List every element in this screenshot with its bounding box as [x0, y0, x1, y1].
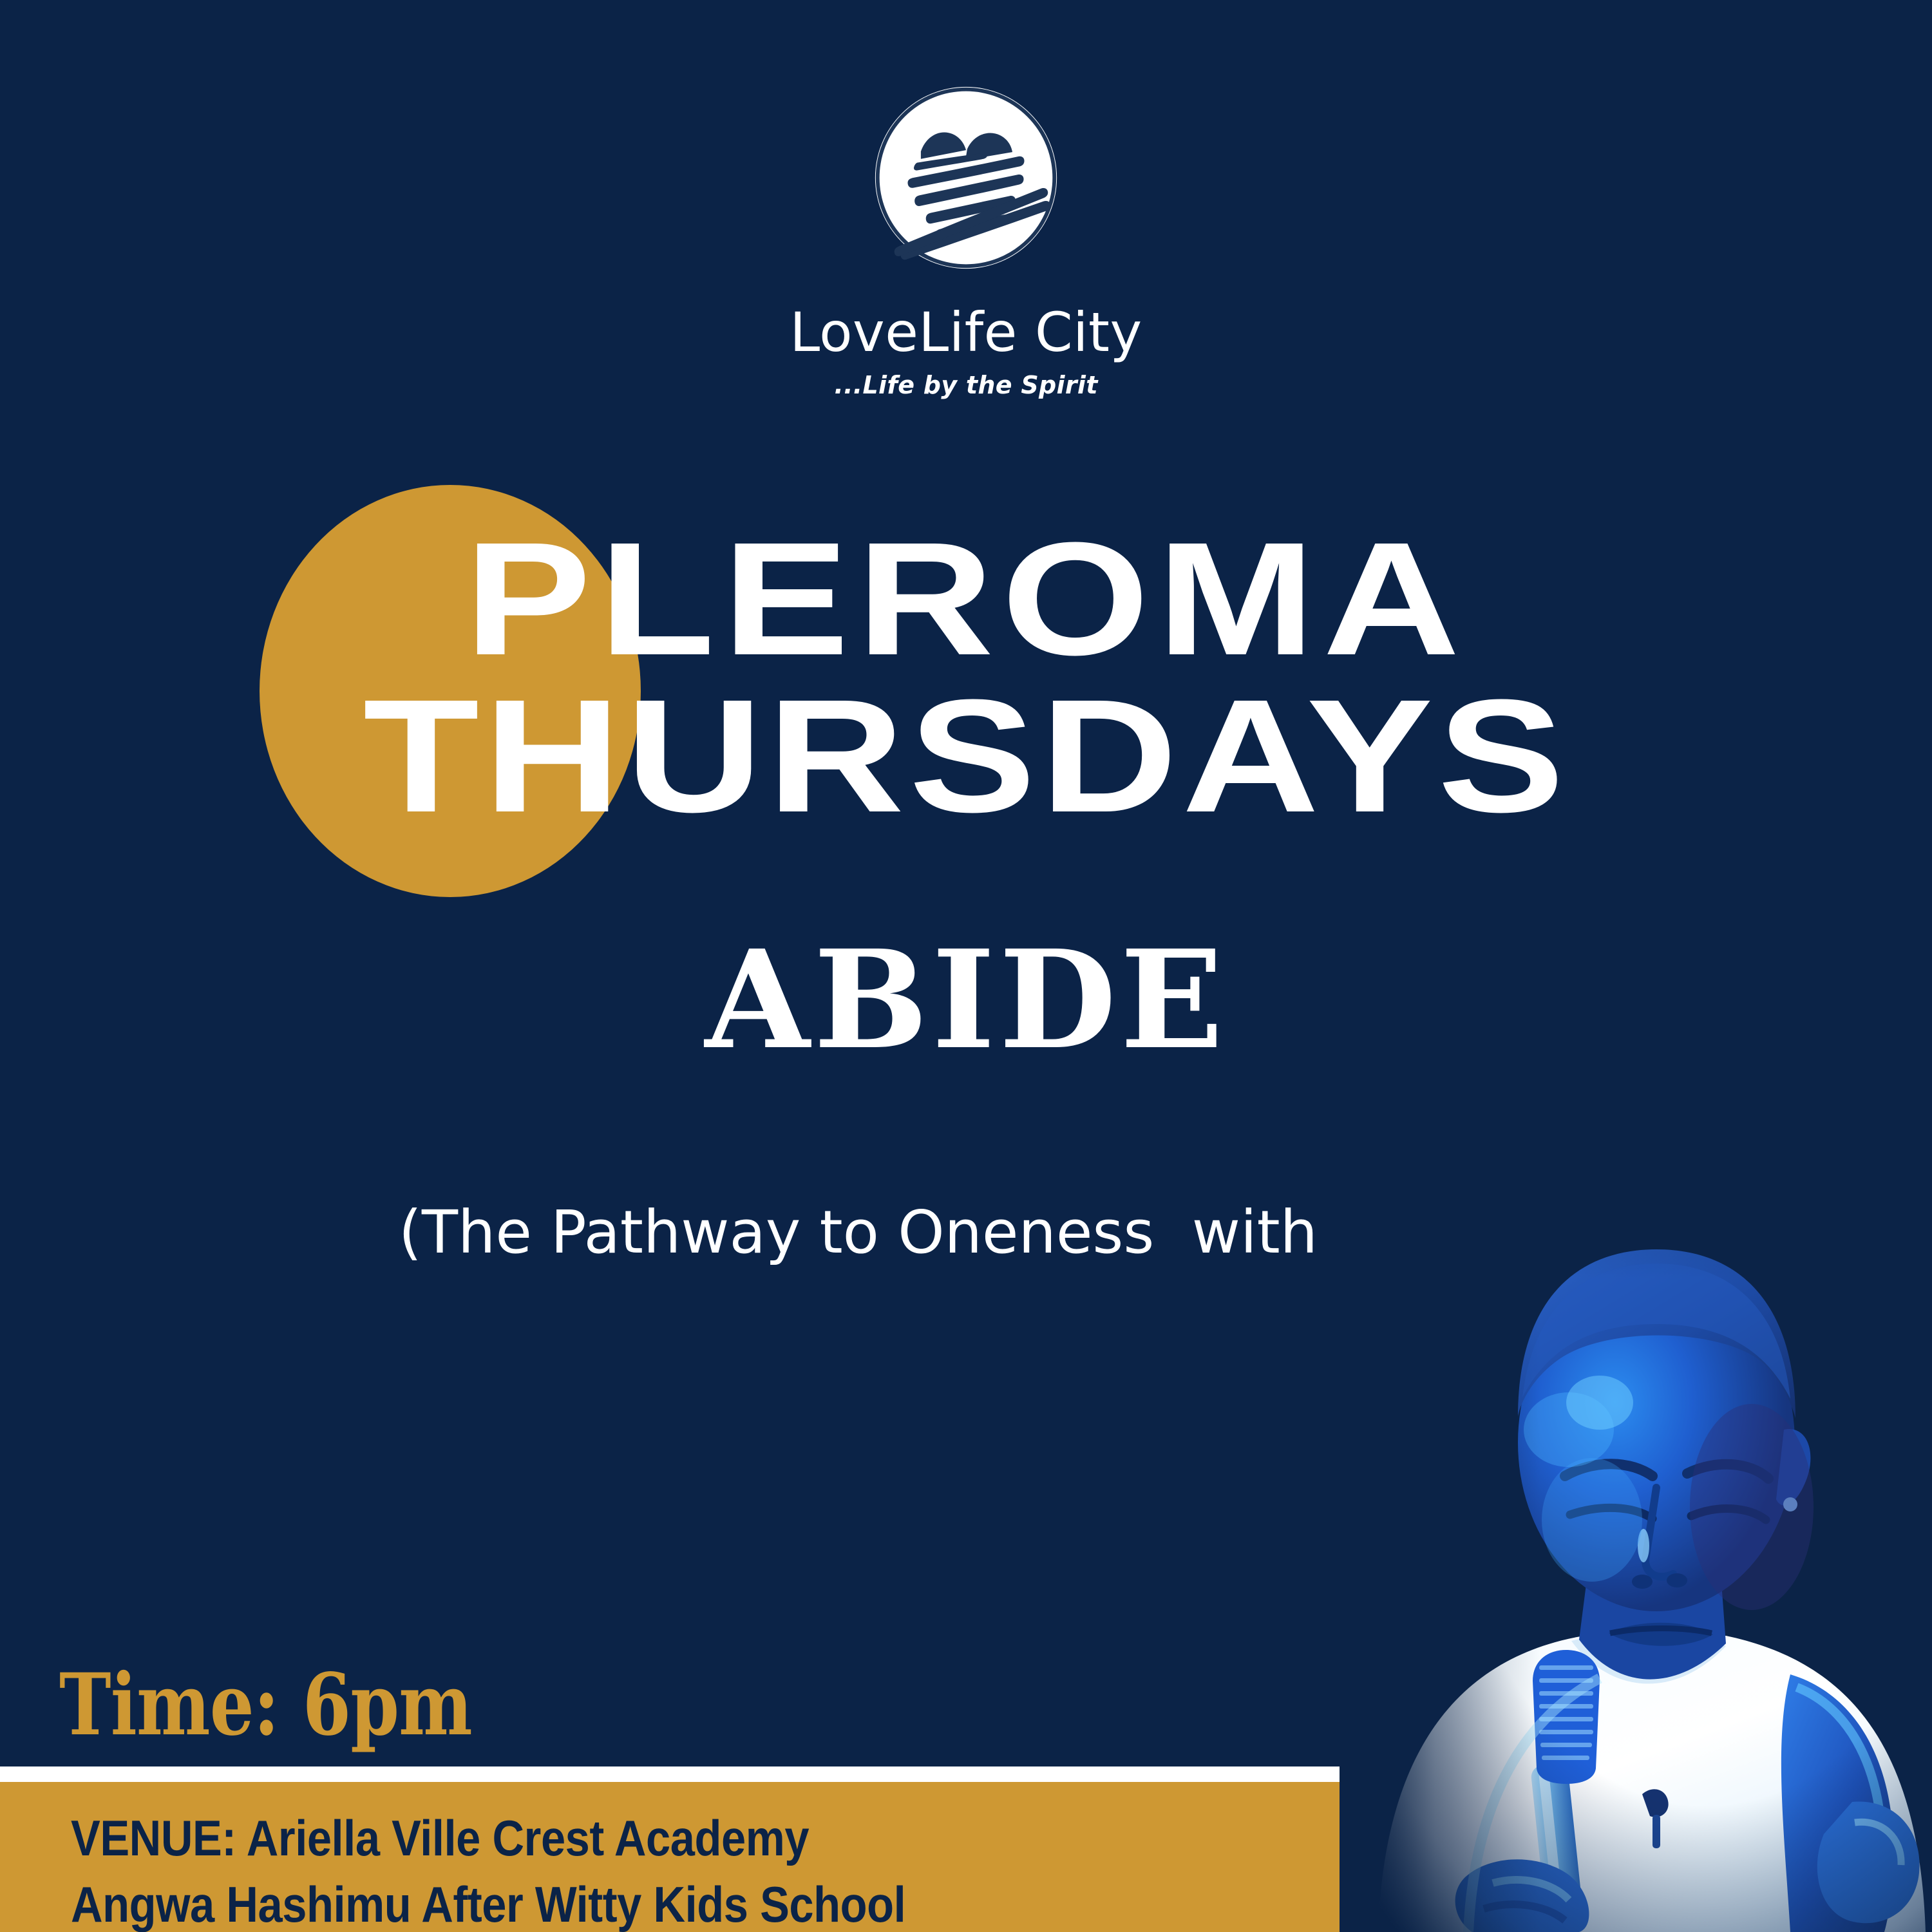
brand-logo-block: LoveLife City ...Life by the Spirit — [0, 84, 1932, 399]
event-time: Time: 6pm — [59, 1655, 472, 1755]
theme-title: ABIDE — [0, 933, 1932, 1068]
event-flyer: LoveLife City ...Life by the Spirit PLER… — [0, 0, 1932, 1932]
venue-line-1: VENUE: Ariella Ville Crest Academy — [71, 1805, 1287, 1871]
event-headline: PLEROMA THURSDAYS — [0, 522, 1932, 833]
headline-line-2: THURSDAYS — [0, 679, 1932, 833]
lovelife-heart-circle-logo-icon — [872, 84, 1060, 272]
brand-tagline: ...Life by the Spirit — [834, 371, 1097, 399]
headline-line-1: PLEROMA — [0, 522, 1932, 676]
brand-name: LoveLife City — [790, 305, 1142, 359]
venue-line-2: Angwa Hashimu After Witty Kids School — [71, 1871, 1287, 1932]
divider-rule — [0, 1766, 1452, 1782]
venue-details: VENUE: Ariella Ville Crest Academy Angwa… — [0, 1782, 1452, 1932]
